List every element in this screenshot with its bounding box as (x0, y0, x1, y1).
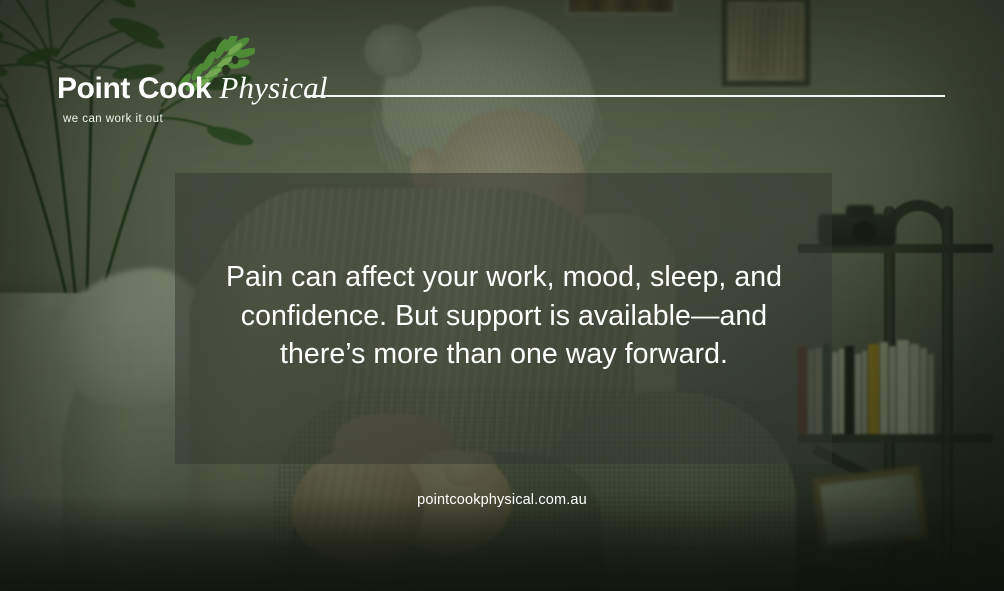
brand-tagline: we can work it out (63, 113, 328, 125)
header-divider-rule (308, 95, 945, 97)
website-url[interactable]: pointcookphysical.com.au (0, 492, 1004, 508)
quote-line: there’s more than one way forward. (192, 335, 816, 374)
brand-wordmark: Point Cook Physical (57, 72, 328, 104)
brand-logo[interactable]: Point Cook Physical we can work it out (57, 72, 328, 125)
quote-text: Pain can affect your work, mood, sleep, … (192, 258, 816, 374)
quote-line: Pain can affect your work, mood, sleep, … (192, 258, 816, 297)
brand-name-secondary: Physical (219, 72, 327, 103)
quote-line: confidence. But support is available—and (192, 297, 816, 336)
social-graphic-canvas: Point Cook Physical we can work it out P… (0, 0, 1004, 591)
brand-name-primary: Point Cook (57, 74, 211, 104)
